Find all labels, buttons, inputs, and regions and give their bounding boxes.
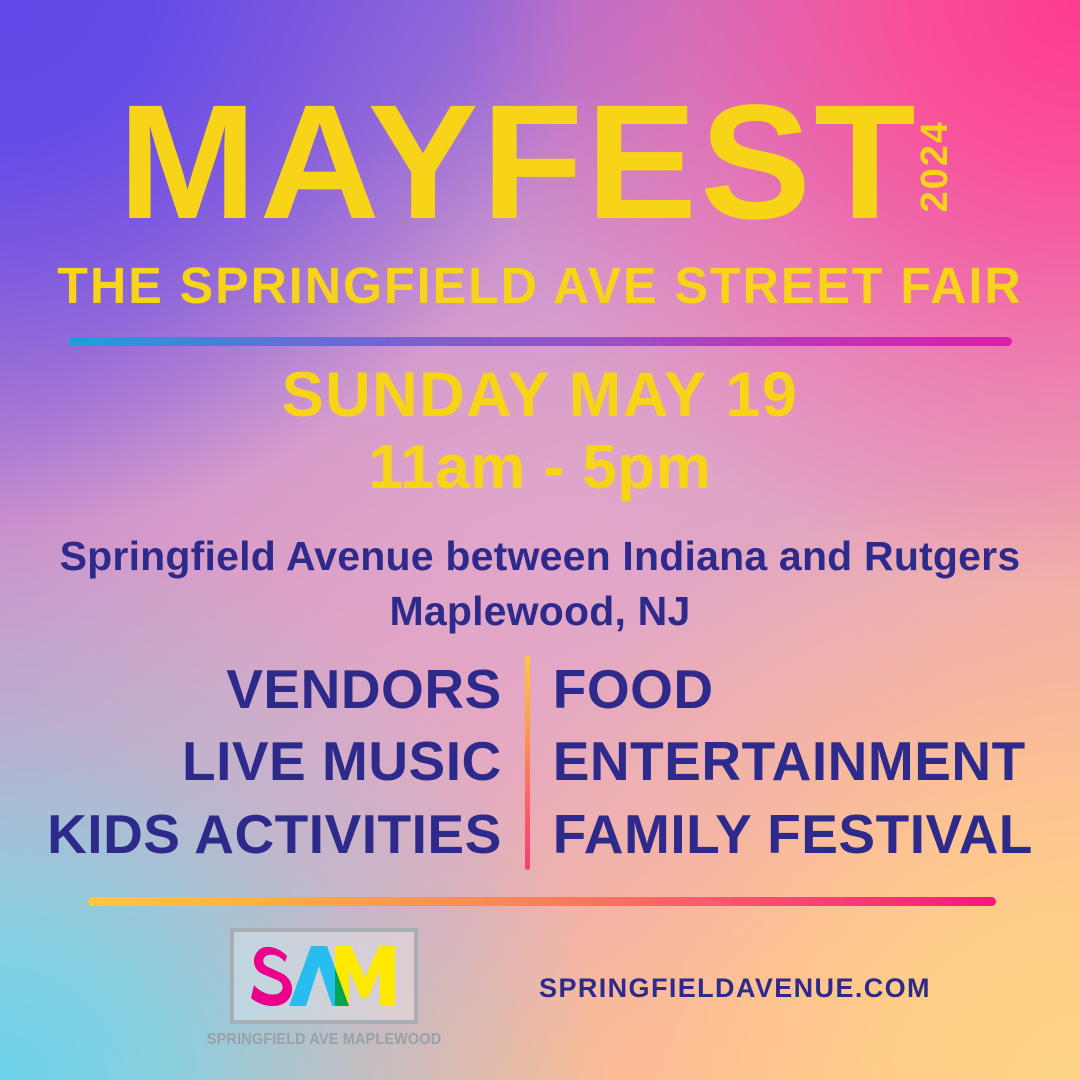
logo-letter-s [251, 947, 292, 1006]
address-line-1: Springfield Avenue between Indiana and R… [0, 529, 1080, 584]
logo-frame [230, 928, 418, 1024]
feature-item: VENDORS [226, 661, 502, 717]
subtitle: THE SPRINGFIELD AVE STREET FAIR [8, 256, 1072, 315]
sam-logo[interactable]: SPRINGFIELD AVE MAPLEWOOD [228, 928, 420, 1049]
feature-item: KIDS ACTIVITIES [47, 806, 502, 862]
feature-item: FAMILY FESTIVAL [553, 806, 1033, 862]
event-date: SUNDAY MAY 19 [0, 362, 1080, 428]
date-block: SUNDAY MAY 19 11am - 5pm [0, 362, 1080, 503]
page-title: MAYFEST [118, 92, 919, 232]
feature-item: FOOD [553, 661, 714, 717]
title-row: MAYFEST 2024 [0, 92, 1080, 242]
feature-item: LIVE MUSIC [182, 733, 502, 789]
features-block: VENDORS LIVE MUSIC KIDS ACTIVITIES FOOD … [0, 655, 1080, 870]
website-url[interactable]: SPRINGFIELDAVENUE.COM [520, 973, 950, 1004]
features-left-column: VENDORS LIVE MUSIC KIDS ACTIVITIES [47, 655, 525, 870]
event-time: 11am - 5pm [0, 432, 1080, 503]
address-line-2: Maplewood, NJ [0, 584, 1080, 639]
year-badge: 2024 [916, 120, 954, 213]
mayfest-poster: MAYFEST 2024 THE SPRINGFIELD AVE STREET … [0, 0, 1080, 1080]
header-block: MAYFEST 2024 THE SPRINGFIELD AVE STREET … [0, 92, 1080, 315]
address-block: Springfield Avenue between Indiana and R… [0, 529, 1080, 638]
divider-bottom [88, 897, 996, 906]
footer-block: SPRINGFIELD AVE MAPLEWOOD SPRINGFIELDAVE… [0, 918, 1080, 1068]
sam-logomark-icon [249, 944, 399, 1008]
features-right-column: FOOD ENTERTAINMENT FAMILY FESTIVAL [530, 655, 1033, 870]
logo-caption: SPRINGFIELD AVE MAPLEWOOD [207, 1031, 442, 1049]
feature-item: ENTERTAINMENT [553, 733, 1026, 789]
divider-top [68, 337, 1012, 346]
